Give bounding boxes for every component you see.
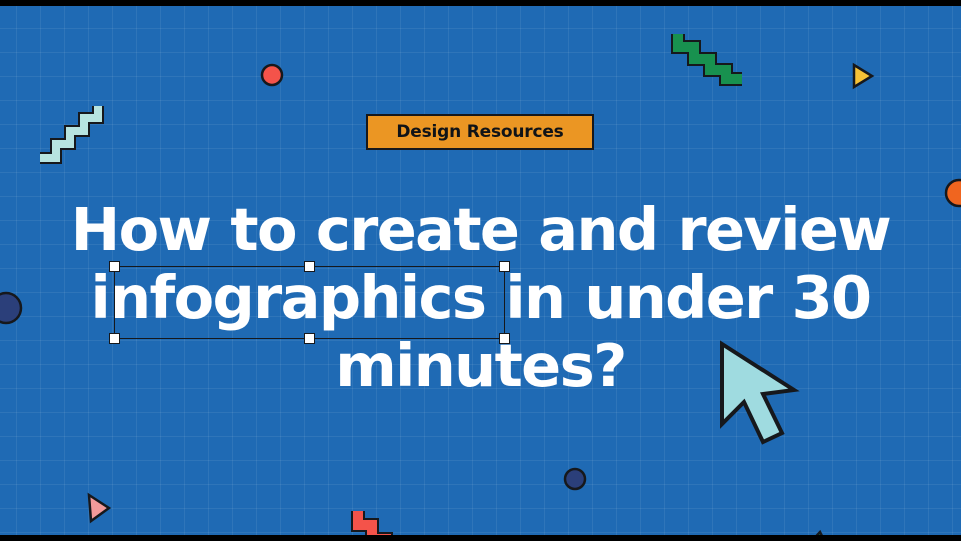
circle-coral-icon <box>260 63 284 87</box>
circle-navy-bottom-icon <box>563 467 587 491</box>
slide-background: Design Resources How to create and revie… <box>0 6 961 535</box>
resize-handle-top-right[interactable] <box>499 261 510 272</box>
badge-label: Design Resources <box>396 122 563 142</box>
slide-canvas: Design Resources How to create and revie… <box>0 0 961 541</box>
resize-handle-bottom-center[interactable] <box>304 333 315 344</box>
zigzag-mint-icon <box>36 102 112 164</box>
zigzag-red-icon <box>352 505 412 535</box>
triangle-yellow-icon <box>850 61 876 91</box>
design-resources-badge[interactable]: Design Resources <box>366 114 594 150</box>
resize-handle-top-left[interactable] <box>109 261 120 272</box>
resize-handle-bottom-right[interactable] <box>499 333 510 344</box>
resize-handle-bottom-left[interactable] <box>109 333 120 344</box>
triangle-pink-icon <box>84 491 114 525</box>
zigzag-green-icon <box>672 28 756 84</box>
resize-handle-top-center[interactable] <box>304 261 315 272</box>
triangle-green-icon <box>794 530 838 535</box>
text-selection-box[interactable] <box>114 266 505 339</box>
arrow-pointer-icon <box>714 338 806 450</box>
